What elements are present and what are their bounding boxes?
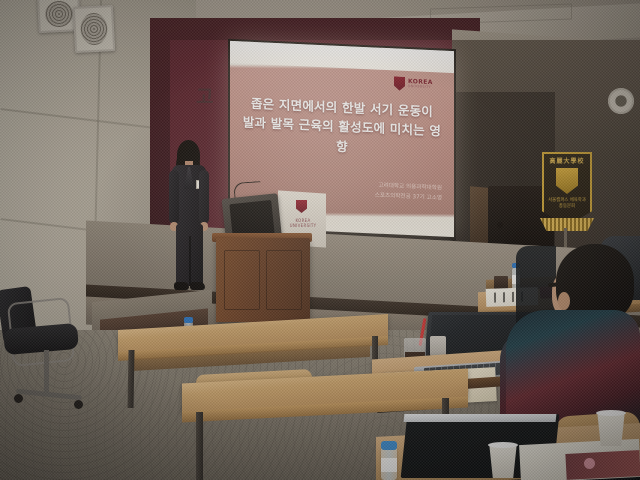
- bottle-label: [381, 458, 397, 472]
- podium-panel: [224, 250, 260, 310]
- ceiling-speaker-icon: [73, 5, 115, 53]
- banner-fringe: [540, 218, 594, 231]
- chair-caster: [14, 394, 23, 403]
- cup-rim: [488, 442, 518, 448]
- slide-title-line2: 발과 발목 근육의 활성도에 미치는 영향: [240, 113, 444, 161]
- desk-leg: [127, 350, 134, 408]
- banner-line2: 총동문회: [546, 204, 588, 210]
- slide-subtitle: 고려대학교 의용과학대학원 스포츠의학전공 37기 고소영: [332, 180, 442, 204]
- chair-caster: [74, 400, 83, 409]
- banner-body-text: 서울캠퍼스 체육학과 총동문회: [546, 198, 588, 211]
- presenter-shoe: [190, 282, 205, 290]
- podium-crest-label: KOREA UNIVERSITY: [288, 218, 318, 228]
- banner-top-text: 高麗大學校: [546, 156, 588, 165]
- piano-knob: [497, 222, 503, 228]
- desk-leg: [196, 412, 203, 480]
- lecture-hall-photo: 고 KOREA UNIVERSITY 좁은 지면에서의 한발 서기 운동이 발과…: [0, 0, 640, 480]
- paper-cup: [488, 444, 518, 478]
- presenter-arm: [199, 170, 209, 224]
- wall-speaker-icon: [608, 88, 634, 114]
- presenter-arm: [169, 170, 179, 224]
- presenter-leg-split: [189, 236, 191, 286]
- audience-ear: [558, 292, 570, 310]
- chair-post: [44, 350, 49, 396]
- document-cover-image: [565, 450, 640, 480]
- slide-title: 좁은 지면에서의 한발 서기 운동이 발과 발목 근육의 활성도에 미치는 영향: [240, 93, 444, 160]
- paper-cup: [596, 412, 626, 446]
- document-graphic-dot: [584, 458, 595, 469]
- bottle-cap: [381, 441, 397, 450]
- logo-sub: UNIVERSITY: [408, 85, 433, 89]
- podium-panel: [266, 250, 302, 310]
- cup-rim: [596, 410, 626, 416]
- laptop-bezel: [404, 414, 557, 422]
- presenter-shoe: [174, 282, 189, 290]
- bottle-cap: [184, 317, 193, 323]
- ku-logo-icon: KOREA UNIVERSITY: [394, 74, 446, 94]
